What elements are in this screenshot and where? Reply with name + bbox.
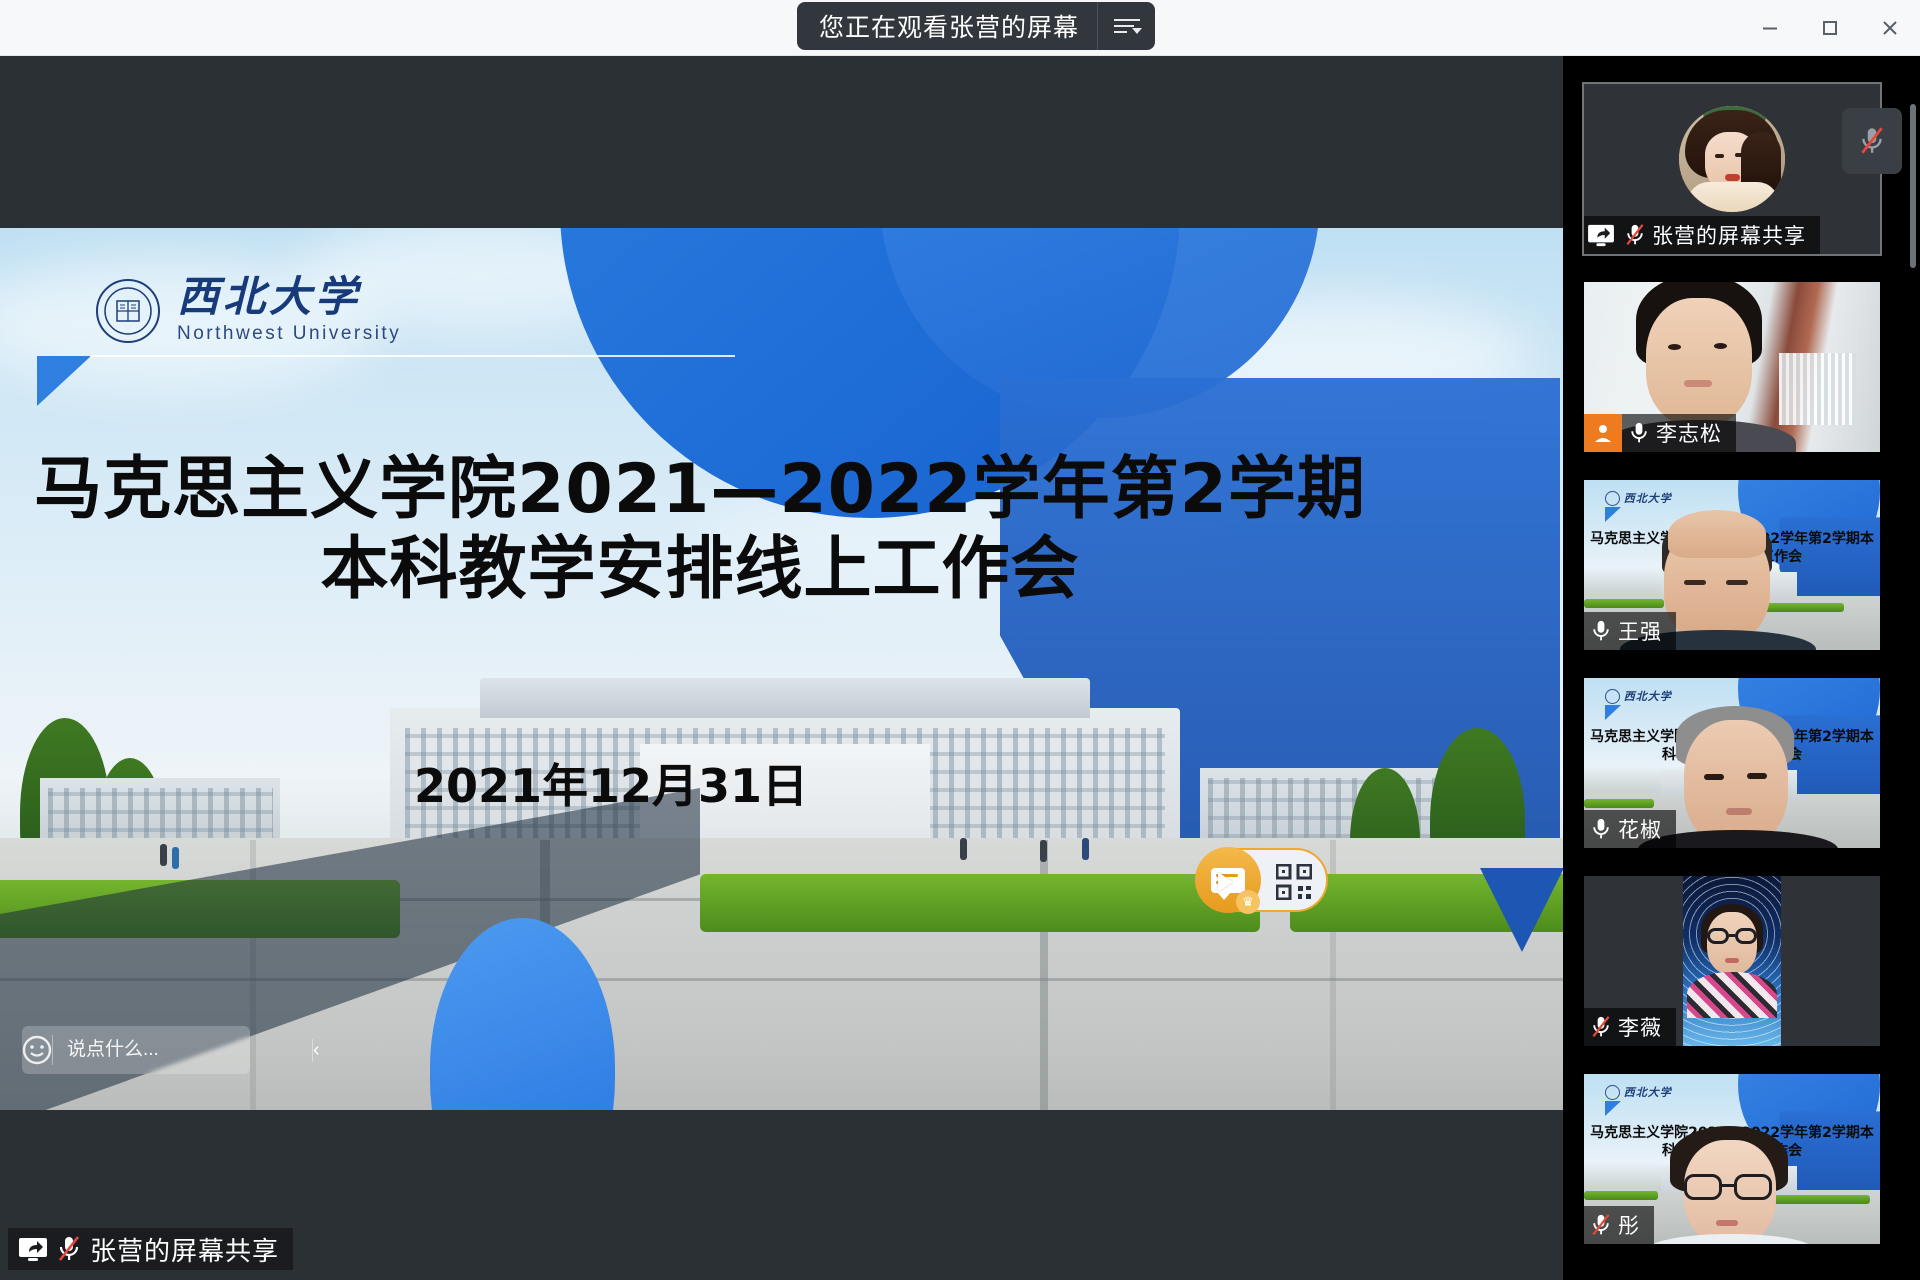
close-icon xyxy=(1879,17,1901,39)
logo-divider xyxy=(90,355,735,357)
tile-participant-name: 王强 xyxy=(1618,616,1662,646)
university-logo: 西北大学 Northwest University xyxy=(95,276,401,345)
screen-share-icon xyxy=(18,1236,48,1262)
tile-participant-name: 彤 xyxy=(1618,1210,1640,1240)
slide-decor-bottom-triangle xyxy=(1480,868,1563,952)
maximize-button[interactable] xyxy=(1800,0,1860,56)
tile-name-badge: 李志松 xyxy=(1584,414,1736,452)
participants-sidebar: 张营的屏幕共享 xyxy=(1563,56,1920,1280)
hamburger-menu-icon[interactable] xyxy=(1097,2,1155,50)
slide-decor-triangle xyxy=(37,356,91,406)
mic-muted-icon xyxy=(1618,216,1652,254)
tile-name-badge: 李薇 xyxy=(1584,1008,1676,1046)
stage-status-bar: 张营的屏幕共享 xyxy=(8,1228,293,1270)
maximize-icon xyxy=(1819,17,1841,39)
qr-code-icon[interactable] xyxy=(1276,864,1312,900)
tile-participant-name: 花椒 xyxy=(1618,814,1662,844)
window-titlebar: 您正在观看张营的屏幕 xyxy=(0,0,1920,56)
tile-name-badge: 王强 xyxy=(1584,612,1676,650)
emoji-smile-icon[interactable] xyxy=(22,1035,53,1065)
avatar xyxy=(1679,106,1785,212)
thumb-logo: 西北大学 xyxy=(1624,490,1672,506)
mic-muted-icon xyxy=(1584,1008,1618,1046)
thumb-logo: 西北大学 xyxy=(1624,688,1672,704)
tile-participant-name: 李志松 xyxy=(1656,418,1722,448)
tile-name-badge: 张营的屏幕共享 xyxy=(1584,216,1820,254)
mic-on-icon xyxy=(1622,414,1656,452)
share-banner-text: 您正在观看张营的屏幕 xyxy=(819,8,1097,44)
participant-tile-3[interactable]: 西北大学 马克思主义学院2021—2022学年第2学期本科教学安排线上工作会 xyxy=(1584,480,1880,650)
shared-screen-stage: 西北大学 Northwest University 马克思主义学院2021—20… xyxy=(0,56,1563,1280)
mic-muted-icon xyxy=(1584,1206,1618,1244)
participant-tile-6[interactable]: 西北大学 马克思主义学院2021—2022学年第2学期本科教学安排线上工作会 3… xyxy=(1584,1074,1880,1244)
sidebar-scrollbar[interactable] xyxy=(1910,56,1918,1280)
share-banner: 您正在观看张营的屏幕 xyxy=(797,2,1155,50)
comment-input[interactable] xyxy=(53,1039,312,1061)
tile-name-badge: 彤 xyxy=(1584,1206,1654,1244)
window-controls xyxy=(1740,0,1920,56)
mic-muted-icon xyxy=(56,1234,82,1264)
university-seal-icon xyxy=(95,278,161,344)
logo-chinese-name: 西北大学 xyxy=(177,276,401,318)
tile-name-badge: 花椒 xyxy=(1584,810,1676,848)
floating-share-widget[interactable]: ♛ xyxy=(1196,848,1328,912)
mic-on-icon xyxy=(1584,612,1618,650)
presentation-slide: 西北大学 Northwest University 马克思主义学院2021—20… xyxy=(0,228,1563,1110)
logo-english-name: Northwest University xyxy=(177,323,401,345)
tile-participant-name: 张营的屏幕共享 xyxy=(1652,220,1806,250)
comment-bar[interactable]: ‹ xyxy=(22,1026,250,1074)
chevron-left-icon[interactable]: ‹ xyxy=(312,1039,320,1062)
thumb-logo: 西北大学 xyxy=(1624,1084,1672,1100)
participant-tile-2[interactable]: 李志松 xyxy=(1584,282,1880,452)
participant-tile-1[interactable]: 张营的屏幕共享 xyxy=(1584,84,1880,254)
participant-tile-4[interactable]: 西北大学 马克思主义学院2021—2022学年第2学期本科教学安排线上工作会 xyxy=(1584,678,1880,848)
slide-title: 马克思主义学院2021—2022学年第2学期本科教学安排线上工作会 xyxy=(0,450,1400,610)
play-triangle-icon xyxy=(1218,872,1233,892)
minimize-button[interactable] xyxy=(1740,0,1800,56)
screen-share-icon xyxy=(1584,216,1618,254)
tile-participant-name: 李薇 xyxy=(1618,1012,1662,1042)
stage-status-label: 张营的屏幕共享 xyxy=(90,1231,279,1268)
mic-on-icon xyxy=(1584,810,1618,848)
minimize-icon xyxy=(1759,17,1781,39)
sidebar-scrollbar-thumb[interactable] xyxy=(1910,104,1916,268)
crown-badge-icon: ♛ xyxy=(1236,890,1260,914)
close-button[interactable] xyxy=(1860,0,1920,56)
slide-date: 2021年12月31日 xyxy=(0,750,1222,816)
participant-tile-5[interactable]: 李薇 xyxy=(1584,876,1880,1046)
mic-muted-icon xyxy=(1858,125,1886,157)
mute-toggle-button[interactable] xyxy=(1842,108,1902,174)
host-badge-icon xyxy=(1584,414,1622,452)
